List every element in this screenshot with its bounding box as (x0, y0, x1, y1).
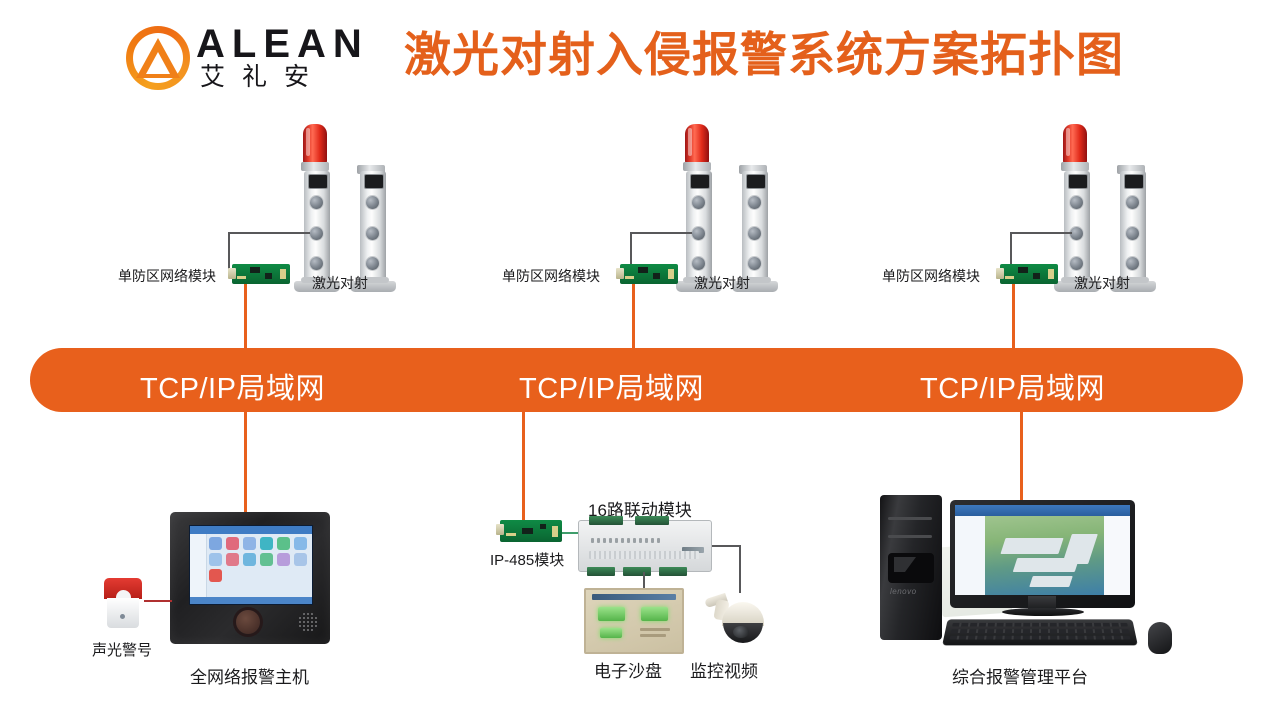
green-pcb-network-module-icon-2 (620, 264, 678, 284)
platform-label: 综合报警管理平台 (952, 663, 1088, 688)
page-header: ALEAN 艾礼安 激光对射入侵报警系统方案拓扑图 (0, 0, 1269, 105)
network-label-1: TCP/IP局域网 (140, 365, 325, 407)
siren-label: 声光警号 (92, 639, 152, 660)
detector-label-2: 激光对射 (694, 273, 750, 293)
connector-module-to-net-2 (632, 284, 635, 348)
laser-beam-tower-secondary-3 (1108, 152, 1158, 292)
alarm-host-panel-icon (170, 512, 330, 644)
laser-beam-tower-secondary-2 (730, 152, 780, 292)
keyboard-icon (942, 619, 1138, 645)
laser-tower-group-2 (672, 112, 792, 292)
green-pcb-network-module-icon-1 (232, 264, 290, 284)
network-label-3: TCP/IP局域网 (920, 365, 1105, 407)
electronic-sand-table-icon (584, 588, 684, 654)
ptz-dome-camera-icon (705, 592, 767, 648)
detector-label-3: 激光对射 (1074, 273, 1130, 293)
laser-beam-tower-primary-1 (292, 114, 342, 292)
module-label-3: 单防区网络模块 (882, 266, 980, 286)
connector-net-to-platform (1020, 412, 1023, 500)
connector-module-to-net-3 (1012, 284, 1015, 348)
tcpip-network-bar: TCP/IP局域网 TCP/IP局域网 TCP/IP局域网 (30, 348, 1243, 412)
pc-tower-icon: lenovo (880, 495, 942, 640)
laser-beam-tower-primary-3 (1052, 114, 1102, 292)
mouse-icon (1148, 622, 1172, 654)
connector-net-to-host (244, 412, 247, 514)
connector-tower-to-module-1 (228, 232, 310, 234)
monitor-screen (955, 505, 1130, 595)
alarm-host-screen (189, 525, 313, 605)
detector-label-1: 激光对射 (312, 273, 368, 293)
sand-table-label: 电子沙盘 (594, 657, 662, 682)
alarm-host-speaker-icon (298, 612, 318, 632)
brand-chinese-text: 艾礼安 (200, 63, 326, 91)
module-label-1: 单防区网络模块 (118, 266, 216, 286)
strobe-beacon-icon-3 (1063, 124, 1087, 164)
connector-module-to-net-1 (244, 284, 247, 348)
connector-tower-to-module-2 (630, 232, 692, 234)
alarm-host-knob[interactable] (236, 610, 260, 634)
connector-tower-to-module-3 (1010, 232, 1072, 234)
page-title: 激光对射入侵报警系统方案拓扑图 (404, 26, 1164, 84)
brand-latin-text: ALEAN (196, 24, 369, 64)
connector-net-to-ip485 (522, 412, 525, 520)
laser-beam-tower-primary-2 (674, 114, 724, 292)
green-pcb-network-module-icon-3 (1000, 264, 1058, 284)
module-label-2: 单防区网络模块 (502, 266, 600, 286)
ip485-label: IP-485模块 (490, 549, 564, 570)
laser-tower-group-3 (1050, 112, 1170, 292)
alarm-host-label: 全网络报警主机 (190, 663, 309, 688)
connector-drop-1 (228, 232, 230, 272)
strobe-beacon-icon-1 (303, 124, 327, 164)
network-label-2: TCP/IP局域网 (519, 365, 704, 407)
alean-triangle-logo-icon (126, 26, 190, 90)
laser-beam-tower-secondary-1 (348, 152, 398, 292)
laser-tower-group-1 (290, 112, 410, 292)
strobe-siren-icon (104, 578, 142, 628)
cctv-label: 监控视频 (690, 657, 758, 682)
green-pcb-ip485-module-icon (500, 520, 562, 542)
monitor-icon (950, 500, 1135, 608)
16-channel-linkage-module-icon (578, 520, 712, 572)
connector-host-to-siren (144, 600, 172, 602)
connector-linkage-to-cctv-v (739, 545, 741, 593)
connector-linkage-to-cctv-h (712, 545, 740, 547)
strobe-beacon-icon-2 (685, 124, 709, 164)
